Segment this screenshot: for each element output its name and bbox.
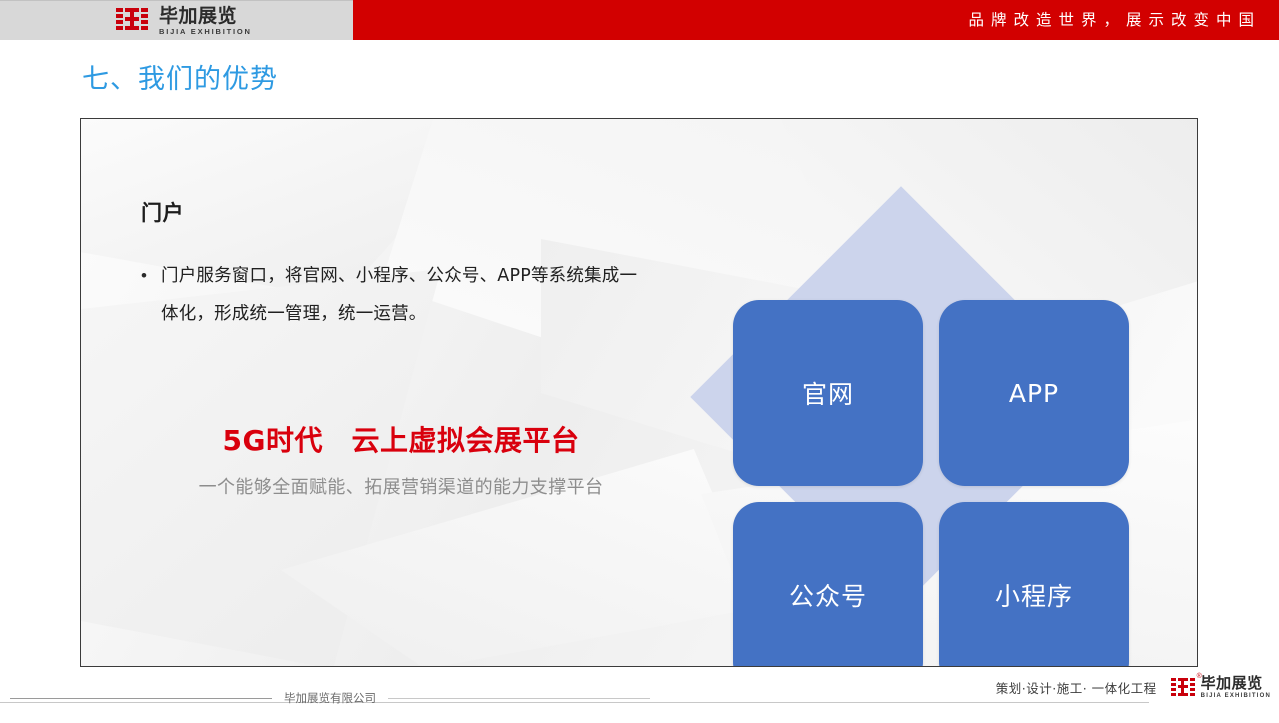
tile-official-website[interactable]: 官网 (733, 300, 923, 486)
header-slogan: 品牌改造世界，展示改变中国 (968, 0, 1261, 40)
tile-official-account[interactable]: 公众号 (733, 502, 923, 667)
footer-brand-name-en: BIJIA EXHIBITION (1201, 693, 1271, 699)
registered-trademark-icon: ® (1197, 673, 1202, 680)
platform-diagram: 官网 APP 公众号 小程序 (636, 129, 1166, 659)
channel-tile-grid: 官网 APP 公众号 小程序 (733, 300, 1129, 667)
top-header: 品牌改造世界，展示改变中国 毕加展览 BIJIA EXHIBITION (0, 0, 1279, 40)
portal-text-block: 门户 • 门户服务窗口，将官网、小程序、公众号、APP等系统集成一体化，形成统一… (141, 197, 641, 333)
footer-brand-wordmark: 毕加展览 BIJIA EXHIBITION (1201, 676, 1271, 699)
bullet-text: 门户服务窗口，将官网、小程序、公众号、APP等系统集成一体化，形成统一管理，统一… (161, 257, 641, 333)
footer-brand-name-cn: 毕加展览 (1201, 676, 1271, 691)
tile-label: 公众号 (789, 577, 867, 613)
content-panel: 门户 • 门户服务窗口，将官网、小程序、公众号、APP等系统集成一体化，形成统一… (80, 118, 1198, 667)
tile-mini-program[interactable]: 小程序 (939, 502, 1129, 667)
bijia-logo-icon (116, 8, 152, 34)
promo-title: 5G时代 云上虚拟会展平台 (141, 419, 661, 459)
promo-subtitle: 一个能够全面赋能、拓展营销渠道的能力支撑平台 (141, 473, 661, 499)
footer-rule-left (10, 698, 272, 699)
header-red-band: 品牌改造世界，展示改变中国 (353, 0, 1279, 40)
tile-label: 小程序 (995, 577, 1073, 613)
tile-app[interactable]: APP (939, 300, 1129, 486)
footer-rule-right (388, 698, 650, 699)
footer-brand-block: 策划·设计·施工· 一体化工程 ® 毕加展览 BIJIA EXHIBITION (996, 676, 1271, 699)
bullet-item: • 门户服务窗口，将官网、小程序、公众号、APP等系统集成一体化，形成统一管理，… (141, 257, 641, 333)
promo-block: 5G时代 云上虚拟会展平台 一个能够全面赋能、拓展营销渠道的能力支撑平台 (141, 419, 661, 499)
footer-company-block: 毕加展览有限公司 (10, 690, 650, 706)
page-title: 七、我们的优势 (82, 57, 278, 96)
footer-brand-logo: ® 毕加展览 BIJIA EXHIBITION (1171, 676, 1271, 699)
brand-name-en: BIJIA EXHIBITION (159, 28, 252, 36)
footer: 毕加展览有限公司 策划·设计·施工· 一体化工程 ® 毕加展览 (0, 690, 1279, 723)
bullet-marker: • (141, 257, 161, 333)
tile-label: APP (1009, 379, 1059, 408)
brand-name-cn: 毕加展览 (159, 7, 252, 26)
tile-label: 官网 (802, 375, 854, 411)
bijia-logo-icon (1171, 678, 1197, 698)
brand-wordmark: 毕加展览 BIJIA EXHIBITION (159, 7, 252, 36)
header-brand-logo: 毕加展览 BIJIA EXHIBITION (116, 7, 252, 36)
footer-company-name: 毕加展览有限公司 (272, 690, 388, 706)
footer-tagline: 策划·设计·施工· 一体化工程 (996, 678, 1157, 697)
section-heading: 门户 (141, 197, 641, 227)
